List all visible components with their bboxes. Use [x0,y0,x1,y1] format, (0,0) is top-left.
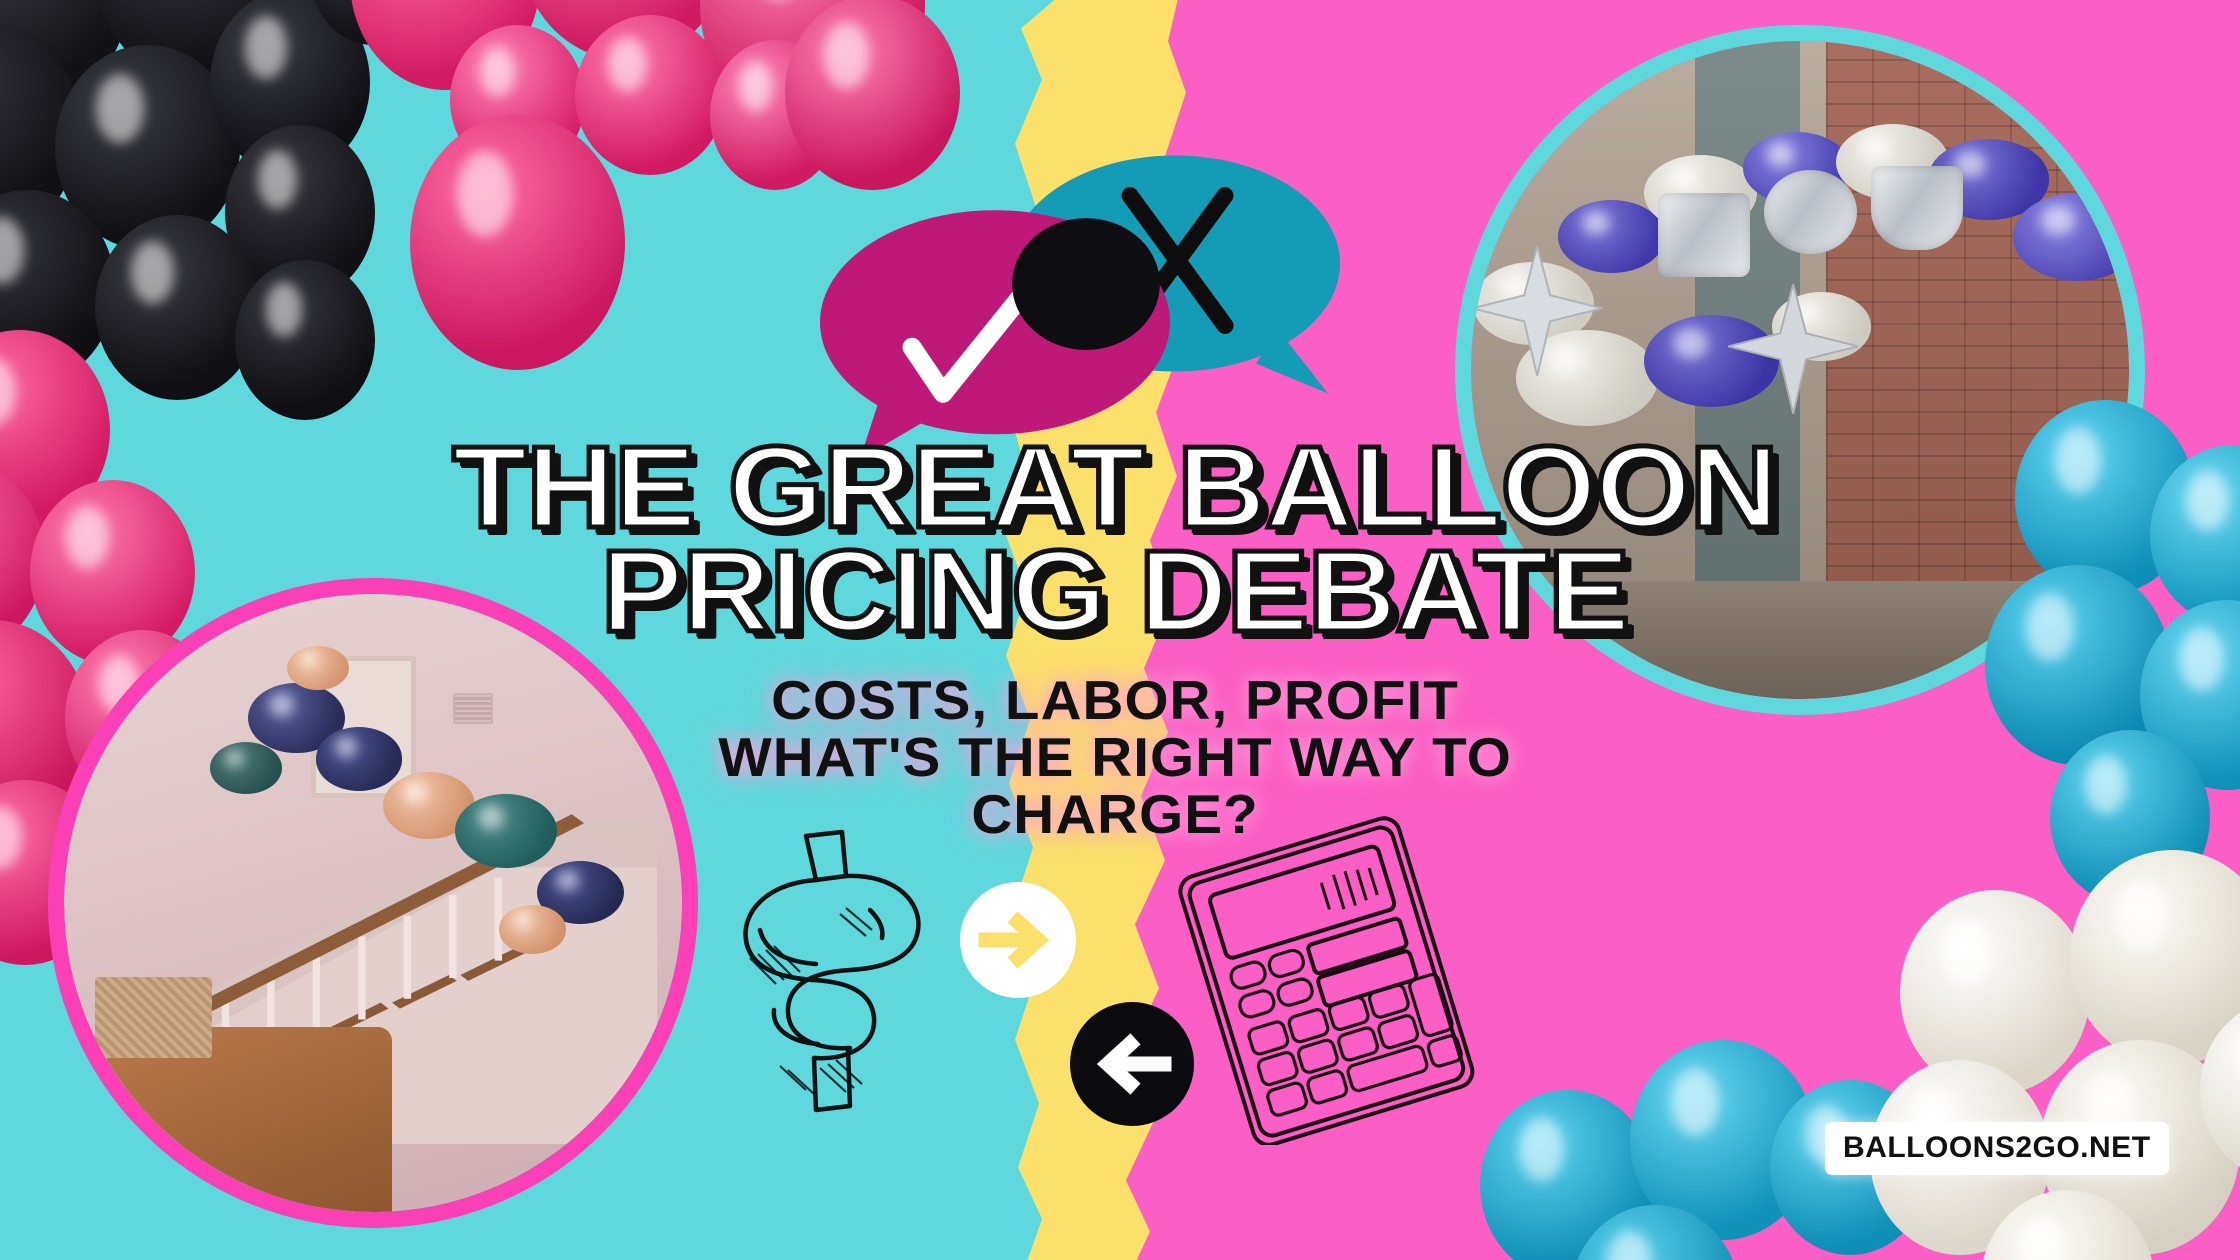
letter-balloon-t [1658,193,1750,277]
balloon-cluster-cyan-right [1975,400,2240,900]
watermark-text: BALLOONS2GO.NET [1843,1131,2151,1164]
letter-balloon-c [1764,170,1856,254]
starburst-balloon-left [1471,246,1615,376]
starburst-balloon-center [1715,284,1871,414]
photo-stairs-balloon-garland [48,578,698,1228]
arrow-right-icon[interactable] [958,880,1078,1000]
poster-canvas: THE GREAT BALLOON PRICING DEBATE COSTS, … [0,0,2240,1260]
dollar-sign-icon [720,818,935,1138]
calculator-icon [1168,815,1488,1145]
bubble-overlap-shade [1012,218,1160,350]
letter-balloon-u [1871,166,1963,250]
arrow-left-icon[interactable] [1068,1000,1196,1128]
watermark-badge: BALLOONS2GO.NET [1825,1122,2169,1175]
balloon-cluster-cream-bottomright [1870,890,2240,1260]
